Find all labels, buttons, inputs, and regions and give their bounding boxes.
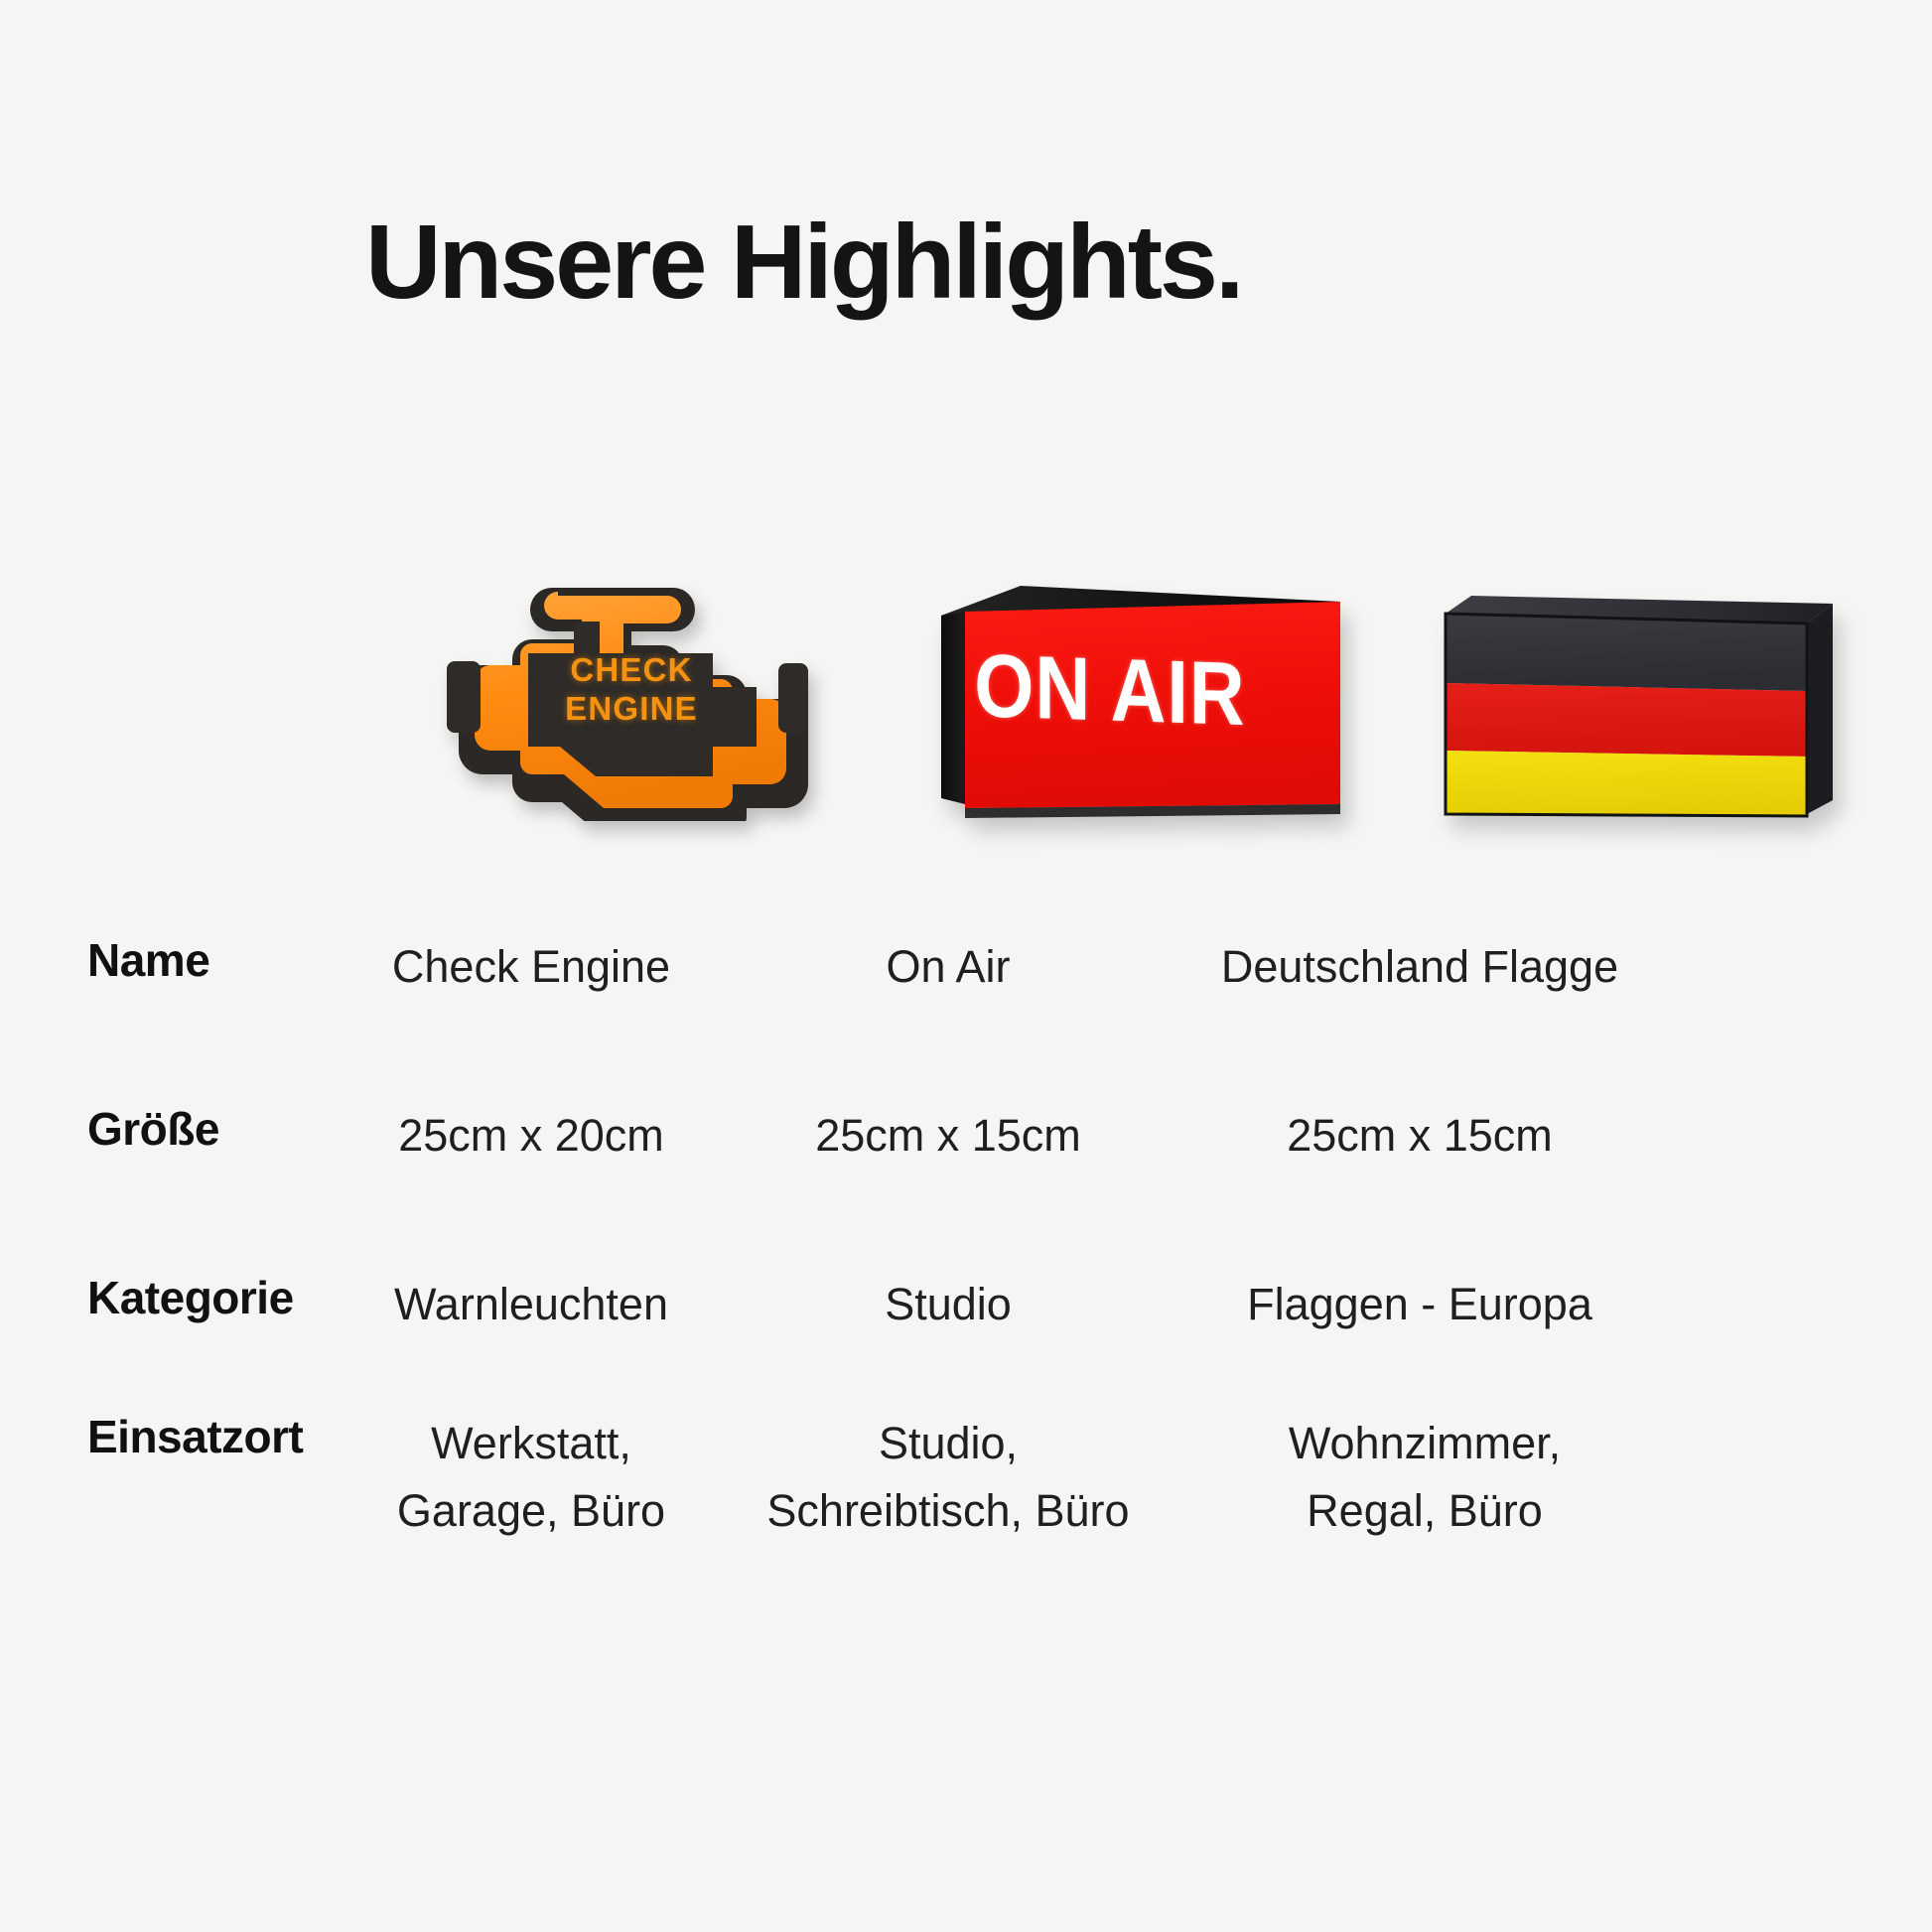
spec-cell-location-check-engine: Werkstatt, Garage, Büro	[328, 1410, 735, 1546]
spec-row-name: Name Check Engine On Air Deutschland Fla…	[0, 933, 1932, 1102]
germany-flag-lightbox-icon	[1436, 588, 1833, 831]
spec-cell-name-on-air: On Air	[755, 933, 1142, 1001]
spec-row-label-size: Größe	[87, 1102, 219, 1156]
page-title: Unsere Highlights.	[365, 209, 1241, 315]
spec-cell-name-check-engine: Check Engine	[338, 933, 725, 1001]
product-image-deutschland-flagge[interactable]	[1410, 556, 1857, 844]
product-image-strip: CHECK ENGINE	[0, 556, 1932, 844]
spec-cell-size-check-engine: 25cm x 20cm	[338, 1102, 725, 1170]
spec-cell-size-on-air: 25cm x 15cm	[755, 1102, 1142, 1170]
spec-cell-location-check-engine-line2: Garage, Büro	[328, 1477, 735, 1545]
spec-cell-location-on-air-line2: Schreibtisch, Büro	[740, 1477, 1157, 1545]
spec-cell-size-deutschland-flagge: 25cm x 15cm	[1142, 1102, 1698, 1170]
spec-cell-name-deutschland-flagge: Deutschland Flagge	[1142, 933, 1698, 1001]
spec-cell-location-deutschland-flagge-line2: Regal, Büro	[1147, 1477, 1703, 1545]
spec-row-size: Größe 25cm x 20cm 25cm x 15cm 25cm x 15c…	[0, 1102, 1932, 1271]
spec-cell-location-deutschland-flagge-line1: Wohnzimmer,	[1147, 1410, 1703, 1477]
spec-row-location: Einsatzort Werkstatt, Garage, Büro Studi…	[0, 1410, 1932, 1628]
spec-cell-location-on-air: Studio, Schreibtisch, Büro	[740, 1410, 1157, 1546]
on-air-lightbox-icon: ON AIR	[913, 574, 1340, 822]
spec-row-label-name: Name	[87, 933, 209, 987]
spec-cell-category-on-air: Studio	[755, 1271, 1142, 1338]
spec-cell-category-check-engine: Warnleuchten	[338, 1271, 725, 1338]
spec-cell-category-deutschland-flagge: Flaggen - Europa	[1142, 1271, 1698, 1338]
product-image-check-engine[interactable]: CHECK ENGINE	[405, 556, 842, 844]
product-image-on-air[interactable]: ON AIR	[894, 556, 1360, 844]
check-engine-lamp-icon: CHECK ENGINE	[425, 578, 832, 821]
spec-cell-location-check-engine-line1: Werkstatt,	[328, 1410, 735, 1477]
spec-cell-location-on-air-line1: Studio,	[740, 1410, 1157, 1477]
spec-row-label-category: Kategorie	[87, 1271, 294, 1324]
spec-cell-location-deutschland-flagge: Wohnzimmer, Regal, Büro	[1147, 1410, 1703, 1546]
spec-row-label-location: Einsatzort	[87, 1410, 303, 1463]
